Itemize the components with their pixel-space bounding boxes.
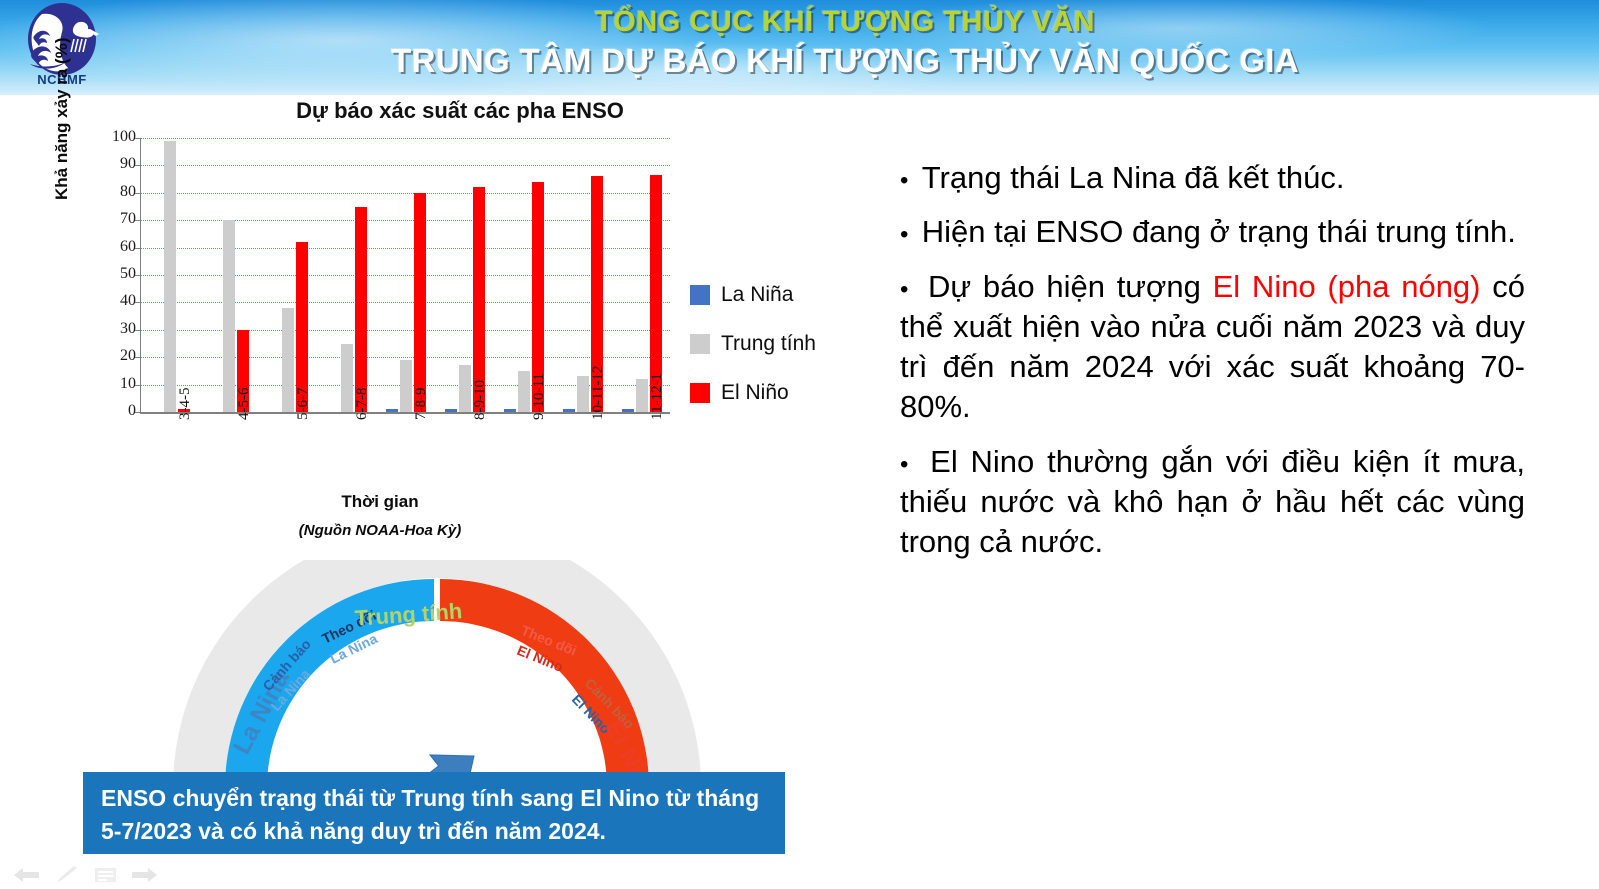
- enso-probability-chart: Khả năng xảy ra (%) 01020304050607080901…: [60, 138, 680, 428]
- presentation-slide: NCHMF TỔNG CỤC KHÍ TƯỢNG THỦY VĂN TRUNG …: [0, 0, 1599, 889]
- chart-y-tick-label: 40: [94, 292, 136, 310]
- chart-bar: [563, 409, 575, 412]
- chart-y-tick-label: 100: [94, 128, 136, 146]
- previous-slide-icon[interactable]: [14, 866, 40, 884]
- bullet-text-run: Dự báo hiện tượng: [928, 269, 1213, 304]
- summary-bullet: • El Nino thường gắn với điều kiện ít mư…: [900, 442, 1525, 563]
- chart-bar: [622, 409, 634, 412]
- next-slide-icon[interactable]: [132, 866, 158, 884]
- slide-menu-icon[interactable]: [94, 866, 118, 884]
- chart-bar-group: 10-11-12: [553, 138, 612, 414]
- chart-y-tick-label: 50: [94, 265, 136, 283]
- chart-y-tick-label: 10: [94, 375, 136, 393]
- chart-y-tick-label: 80: [94, 183, 136, 201]
- bullet-text-run: Trạng thái La Nina đã kết thúc.: [922, 160, 1345, 195]
- bullet-marker: •: [900, 276, 928, 303]
- chart-y-axis-label: Khả năng xảy ra (%): [52, 38, 72, 201]
- chart-legend-item: Trung tính: [690, 332, 816, 356]
- agency-title: TỔNG CỤC KHÍ TƯỢNG THỦY VĂN: [200, 6, 1490, 39]
- chart-legend-item: La Niña: [690, 283, 816, 307]
- chart-bar: [504, 409, 516, 412]
- presenter-controls[interactable]: [14, 862, 164, 888]
- chart-bar-group: 9-10-11: [494, 138, 553, 414]
- chart-bar: [400, 360, 412, 412]
- chart-x-tick-label: 5-6-7: [295, 388, 312, 421]
- chart-bar-group: 8-9-10: [435, 138, 494, 414]
- chart-y-tick-label: 70: [94, 210, 136, 228]
- chart-bar: [445, 409, 457, 412]
- chart-bar-group: 6-7-8: [318, 138, 377, 414]
- chart-bar-group: 4-5-6: [200, 138, 259, 414]
- chart-x-tick-label: 6-7-8: [354, 388, 371, 421]
- chart-bar: [386, 409, 398, 412]
- banner-titles: TỔNG CỤC KHÍ TƯỢNG THỦY VĂN TRUNG TÂM DỰ…: [200, 6, 1490, 80]
- chart-x-axis-label: Thời gian: [230, 492, 530, 512]
- chart-bar: [223, 220, 235, 412]
- chart-x-tick-label: 4-5-6: [236, 388, 253, 421]
- enso-state-gauge: La Nina Cảnh báo La Nina Theo dõi La Nin…: [165, 560, 710, 790]
- summary-bullet-list: • Trạng thái La Nina đã kết thúc.• Hiện …: [900, 158, 1525, 577]
- chart-bar-group: 5-6-7: [259, 138, 318, 414]
- caption-box: ENSO chuyển trạng thái từ Trung tính san…: [83, 772, 785, 854]
- summary-bullet: • Hiện tại ENSO đang ở trạng thái trung …: [900, 212, 1525, 252]
- chart-bar: [414, 193, 426, 412]
- chart-legend-item: El Niño: [690, 381, 816, 405]
- chart-bar: [164, 141, 176, 412]
- chart-plot-area: 3-4-54-5-65-6-76-7-87-8-98-9-109-10-1110…: [140, 138, 670, 414]
- chart-x-tick-label: 10-11-12: [590, 366, 607, 420]
- chart-bar: [577, 376, 589, 412]
- chart-bar-group: 11-12-1: [612, 138, 671, 414]
- chart-x-tick-label: 7-8-9: [413, 388, 430, 421]
- center-title: TRUNG TÂM DỰ BÁO KHÍ TƯỢNG THỦY VĂN QUỐC…: [200, 42, 1490, 80]
- header-banner: NCHMF TỔNG CỤC KHÍ TƯỢNG THỦY VĂN TRUNG …: [0, 0, 1599, 95]
- chart-bar: [355, 207, 367, 413]
- chart-y-tick-label: 30: [94, 320, 136, 338]
- chart-bar: [636, 379, 648, 412]
- chart-y-tick-label: 20: [94, 347, 136, 365]
- chart-bar: [459, 365, 471, 412]
- chart-bar: [518, 371, 530, 412]
- chart-bar-group: 3-4-5: [141, 138, 200, 414]
- bullet-text-run: El Nino thường gắn với điều kiện ít mưa,…: [900, 444, 1525, 560]
- chart-source-note: (Nguồn NOAA-Hoa Kỳ): [230, 522, 530, 539]
- chart-legend-label: El Niño: [721, 381, 789, 405]
- chart-legend-label: Trung tính: [721, 332, 816, 356]
- chart-legend: La NiñaTrung tínhEl Niño: [690, 283, 816, 430]
- chart-x-tick-label: 3-4-5: [177, 388, 194, 421]
- chart-bar-group: 7-8-9: [377, 138, 436, 414]
- chart-title: Dự báo xác suất các pha ENSO: [120, 98, 800, 124]
- chart-bar: [282, 308, 294, 412]
- bullet-marker: •: [900, 167, 922, 194]
- chart-legend-swatch: [690, 334, 710, 354]
- chart-legend-swatch: [690, 285, 710, 305]
- bullet-marker: •: [900, 221, 922, 248]
- chart-x-tick-label: 11-12-1: [649, 373, 666, 420]
- chart-y-tick-label: 90: [94, 155, 136, 173]
- bullet-text-run: El Nino (pha nóng): [1213, 269, 1481, 304]
- chart-bar: [341, 344, 353, 413]
- chart-legend-label: La Niña: [721, 283, 793, 307]
- chart-x-tick-label: 9-10-11: [531, 373, 548, 420]
- summary-bullet: • Trạng thái La Nina đã kết thúc.: [900, 158, 1525, 198]
- chart-bar: [473, 187, 485, 412]
- bullet-text-run: Hiện tại ENSO đang ở trạng thái trung tí…: [922, 214, 1516, 249]
- chart-x-tick-label: 8-9-10: [472, 380, 489, 420]
- chart-y-tick-label: 0: [94, 402, 136, 420]
- chart-y-axis-ticks: 0102030405060708090100: [78, 138, 136, 414]
- summary-bullet: • Dự báo hiện tượng El Nino (pha nóng) c…: [900, 267, 1525, 428]
- chart-y-tick-label: 60: [94, 238, 136, 256]
- chart-legend-swatch: [690, 383, 710, 403]
- bullet-marker: •: [900, 451, 930, 478]
- pen-tool-icon[interactable]: [54, 866, 80, 884]
